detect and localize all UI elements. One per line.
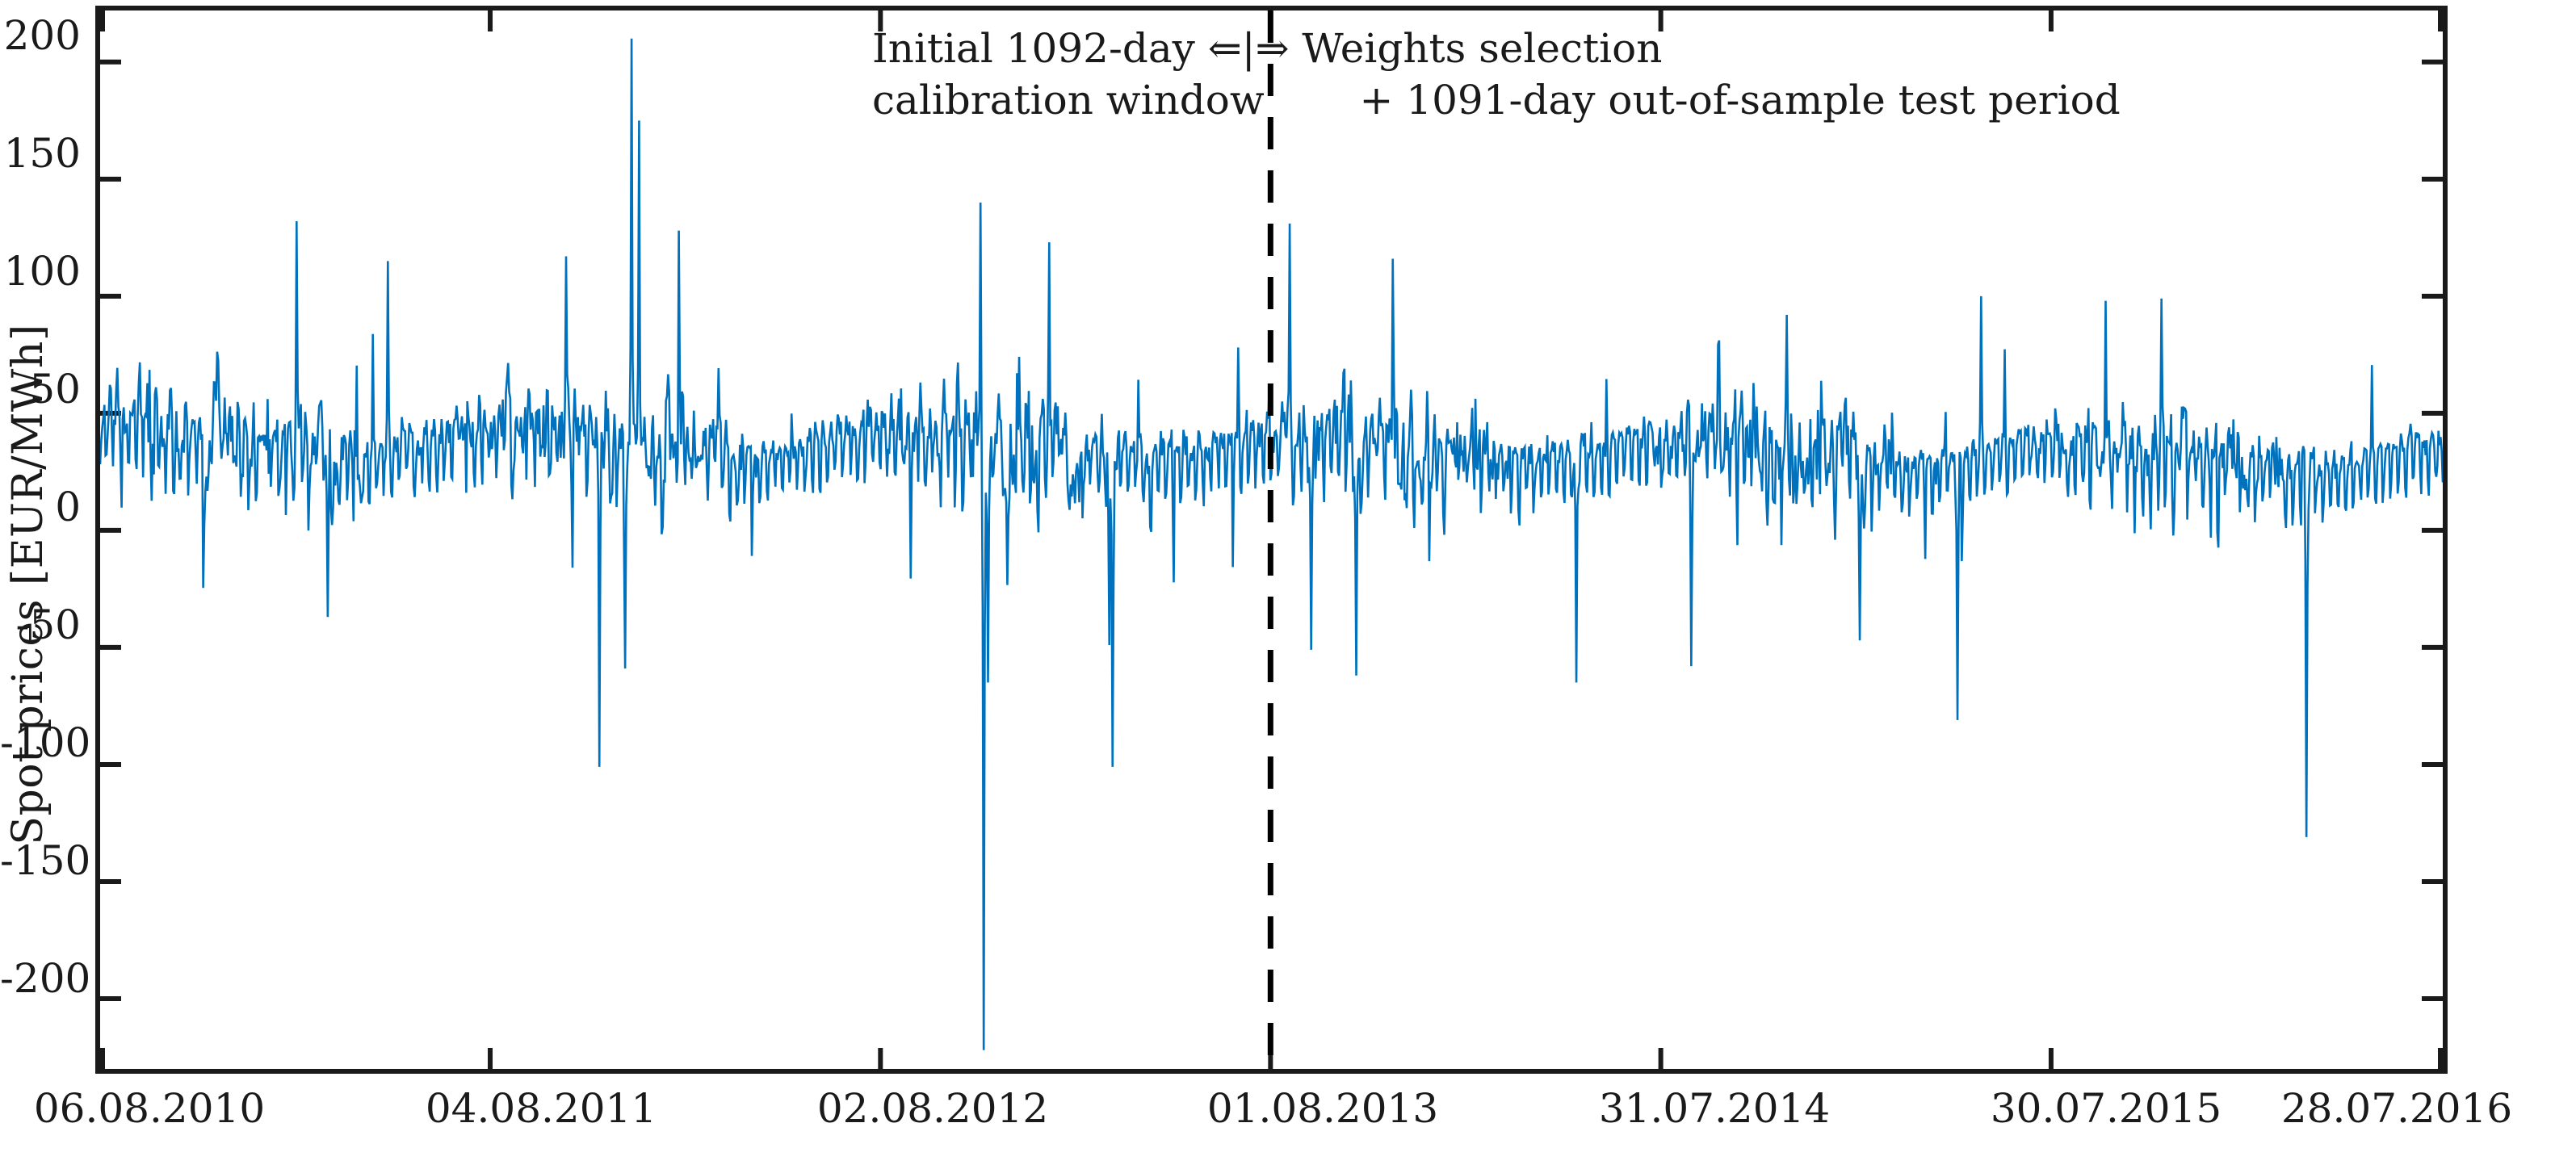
y-tick-label: -100 [0,723,81,763]
y-tick-label: 0 [0,487,81,527]
figure-canvas: Spot prices [EUR/MWh] 200 150 100 50 0 -… [0,0,2576,1169]
x-tick-label: 02.08.2012 [817,1088,1048,1129]
x-tick-label: 28.07.2016 [2281,1088,2512,1129]
x-tick-label: 01.08.2013 [1207,1088,1438,1129]
x-tick-label: 31.07.2014 [1599,1088,1830,1129]
x-tick-label: 04.08.2011 [426,1088,657,1129]
y-tick-label: 50 [0,369,81,409]
plot-area [95,6,2448,1074]
spot-price-series-svg [100,10,2443,1069]
y-tick-label: -200 [0,958,81,999]
y-tick-label: 100 [0,251,81,291]
y-tick-label: -150 [0,840,81,881]
series-canvas [100,10,2443,1069]
y-tick-label: -50 [0,605,81,645]
axis-ticks-group [100,10,2443,1069]
x-tick-label: 06.08.2010 [34,1088,265,1129]
y-tick-label: 200 [0,15,81,56]
y-tick-label: 150 [0,133,81,174]
x-tick-label: 30.07.2015 [1991,1088,2221,1129]
